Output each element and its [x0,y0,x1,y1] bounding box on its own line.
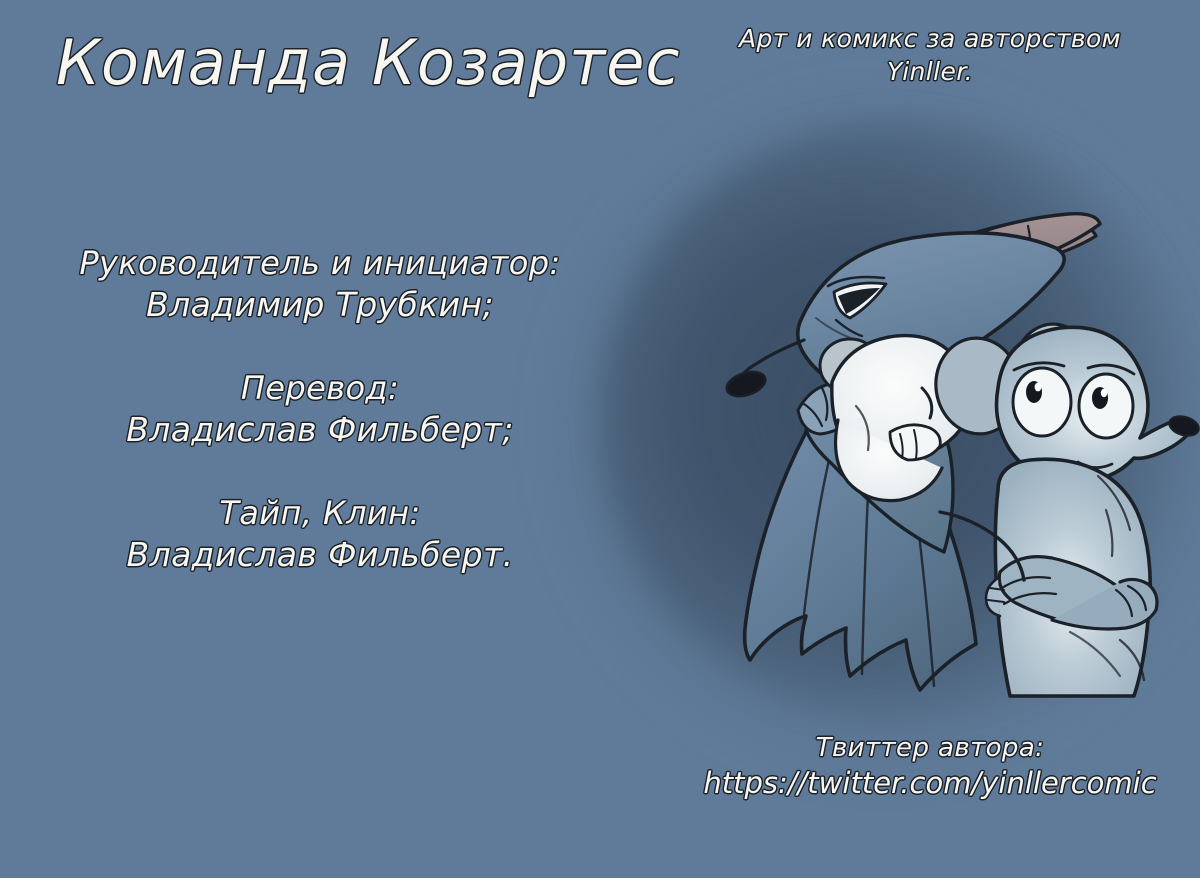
credits-list: Руководитель и инициатор: Владимир Трубк… [10,243,630,577]
twitter-url-link[interactable]: https://twitter.com/yinllercomic [700,765,1160,802]
credit-role: Руководитель и инициатор: [10,243,630,284]
twitter-label: Твиттер автора: [700,732,1160,765]
credit-name: Владислав Фильберт. [10,534,630,576]
author-credit-line2: Yinller. [700,55,1160,88]
twitter-credit: Твиттер автора: https://twitter.com/yinl… [700,732,1160,801]
credit-block: Перевод: Владислав Фильберт; [10,368,630,451]
author-credit: Арт и комикс за авторством Yinller. [700,22,1160,88]
page-title: Команда Козартес [56,30,680,95]
credits-page: Команда Козартес Арт и комикс за авторст… [0,0,1200,878]
credit-block: Тайп, Клин: Владислав Фильберт. [10,493,630,576]
credit-role: Тайп, Клин: [10,493,630,534]
author-credit-line1: Арт и комикс за авторством [739,24,1121,53]
illustration [600,120,1200,720]
credit-role: Перевод: [10,368,630,409]
credit-block: Руководитель и инициатор: Владимир Трубк… [10,243,630,326]
credit-name: Владислав Фильберт; [10,409,630,451]
credit-name: Владимир Трубкин; [10,284,630,326]
